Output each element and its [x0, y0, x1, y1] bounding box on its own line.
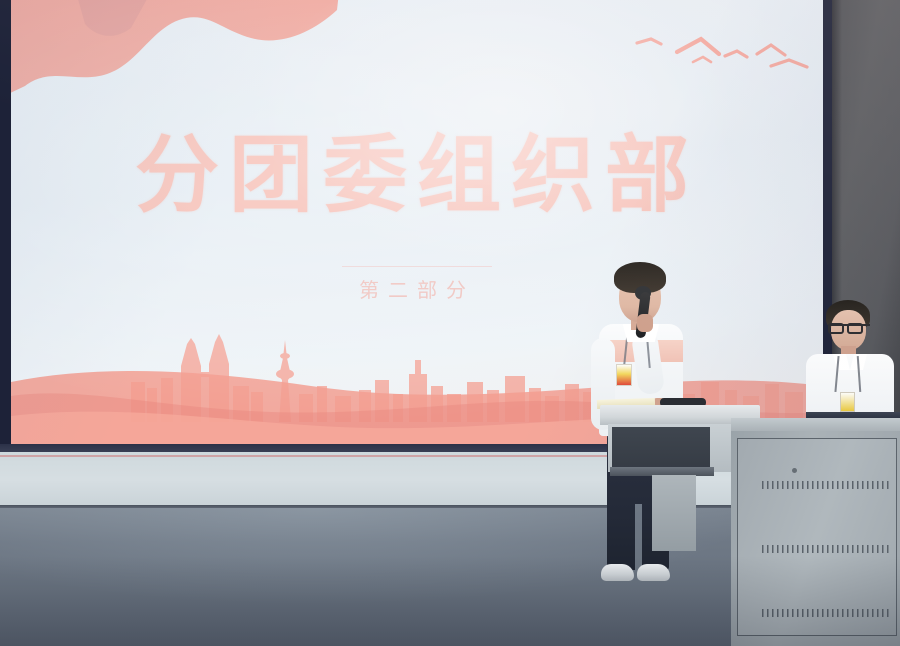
subtitle-divider: [342, 266, 492, 267]
lectern-pedestal: [652, 475, 696, 551]
speaker-badge: [616, 364, 632, 386]
cabinet-vent-row: [762, 609, 890, 617]
speaker-hand-holding-mic: [637, 314, 653, 332]
cabinet-vent-row: [762, 545, 890, 553]
seated-attendee: [800, 300, 900, 420]
cabinet-lock-icon[interactable]: [792, 468, 797, 473]
speaker-shoe-left: [601, 564, 634, 581]
glasses-lens-left: [828, 323, 844, 334]
slide-title: 分团委组织部: [11, 108, 823, 229]
speaker-shoe-right: [637, 564, 670, 581]
projection-screen-frame: 分团委组织部 第二部分: [0, 0, 832, 452]
cabinet-top: [731, 418, 900, 432]
slide-subtitle: 第二部分: [11, 274, 823, 303]
slide-subtitle-block: 第二部分: [11, 266, 823, 303]
cabinet-door[interactable]: [737, 438, 897, 636]
flying-birds-graphic: [631, 18, 821, 88]
av-equipment-cabinet: [731, 418, 900, 646]
presentation-scene: 分团委组织部 第二部分: [0, 0, 900, 646]
waving-flag-graphic: [11, 0, 341, 114]
projection-screen: 分团委组织部 第二部分: [11, 0, 823, 444]
cabinet-vent-row: [762, 481, 890, 489]
attendee-badge: [840, 392, 855, 412]
glasses-lens-right: [847, 323, 863, 334]
